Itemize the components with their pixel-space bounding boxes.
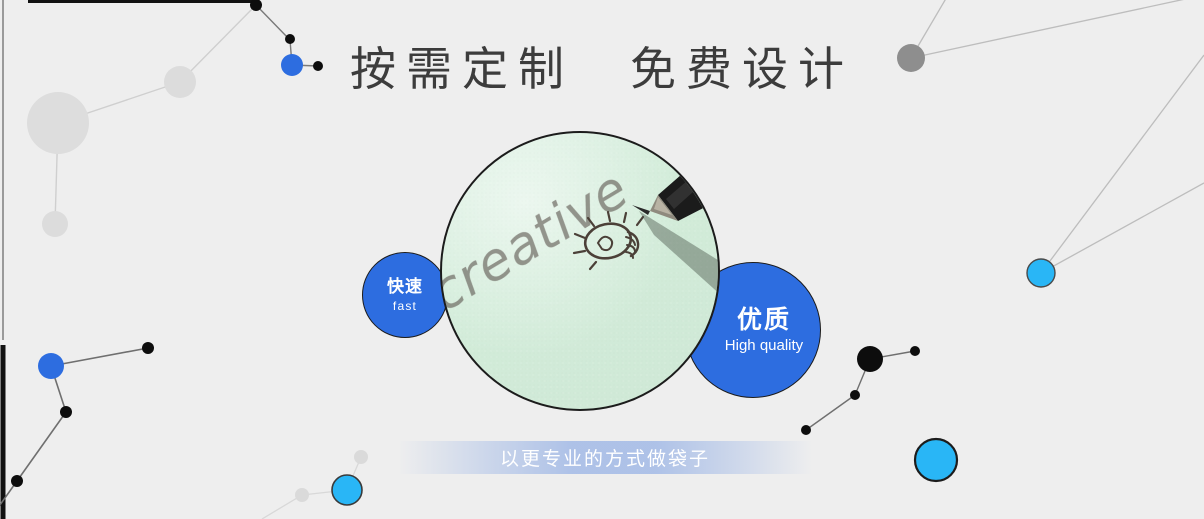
node-gray-tiny-a bbox=[354, 450, 368, 464]
node-black-small-a bbox=[285, 34, 295, 44]
node-black-bottom-right bbox=[857, 346, 883, 372]
node-black-small-g bbox=[850, 390, 860, 400]
feature-circle-fast[interactable]: 快速 fast bbox=[362, 252, 448, 338]
node-black-small-e bbox=[11, 475, 23, 487]
tagline-text: 以更专业的方式做袋子 bbox=[500, 444, 710, 471]
feature-quality-cn: 优质 bbox=[737, 306, 791, 335]
node-black-small-c bbox=[142, 342, 154, 354]
node-black-small-h bbox=[801, 425, 811, 435]
node-gray-small bbox=[42, 211, 68, 237]
tagline-banner: 以更专业的方式做袋子 bbox=[398, 441, 812, 474]
pen-icon bbox=[592, 143, 720, 323]
node-black-small-f bbox=[910, 346, 920, 356]
feature-quality-en: High quality bbox=[725, 337, 803, 354]
feature-fast-cn: 快速 bbox=[387, 277, 423, 297]
creative-photo-circle: creative bbox=[440, 131, 720, 411]
node-black-small-d bbox=[60, 406, 72, 418]
page-title: 按需定制 免费设计 bbox=[0, 44, 1204, 95]
node-cyan-bottom-center bbox=[332, 475, 362, 505]
node-gray-large bbox=[27, 92, 89, 154]
banner-canvas: 按需定制 免费设计 creative bbox=[0, 0, 1204, 519]
node-blue-bottom-left bbox=[38, 353, 64, 379]
feature-fast-en: fast bbox=[393, 299, 417, 313]
node-gray-tiny-b bbox=[295, 488, 309, 502]
node-cyan-bottom-right bbox=[915, 439, 957, 481]
node-cyan-right bbox=[1027, 259, 1055, 287]
